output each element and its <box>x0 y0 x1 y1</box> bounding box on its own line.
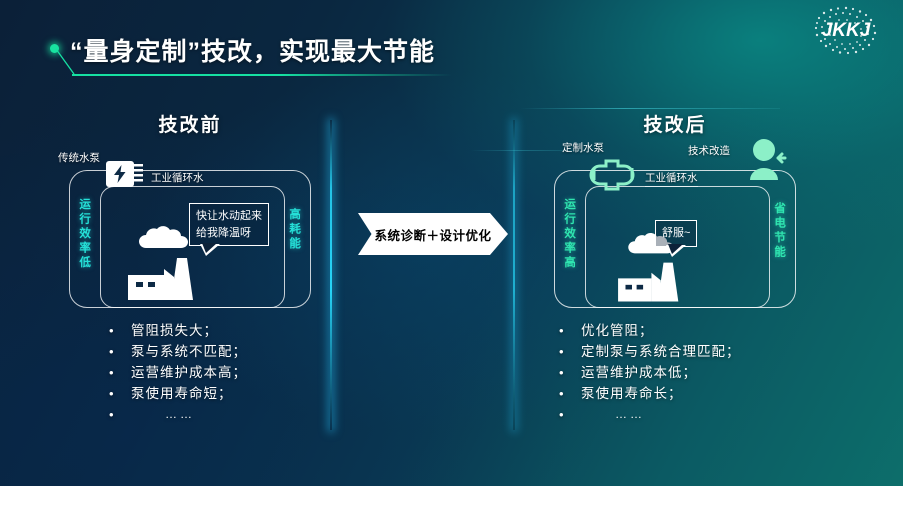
lightning-bolt-icon <box>113 165 127 183</box>
list-item: …… <box>555 404 741 425</box>
slide-canvas: JKKJ “量身定制”技改，实现最大节能 技改前 传统水泵 工业循环水 运行效率… <box>0 0 903 512</box>
after-vlabel-efficiency: 运行效率高 <box>563 198 575 271</box>
logo-wordmark: JKKJ <box>822 20 871 41</box>
list-item: 优化管阻； <box>555 320 741 341</box>
after-vlabel-saving: 省电节能 <box>773 202 785 260</box>
after-bubble-line1: 舒服~ <box>662 225 690 242</box>
divider-glow-right <box>513 120 515 430</box>
list-item: 管阻损失大； <box>105 320 247 341</box>
bubble-tail <box>200 244 220 256</box>
page-title: “量身定制”技改，实现最大节能 <box>70 32 435 68</box>
before-pump-label: 传统水泵 <box>58 150 100 165</box>
panel-after-title: 技改后 <box>540 110 810 137</box>
before-bubble-line2: 给我降温呀 <box>196 225 262 242</box>
list-item: 定制泵与系统合理匹配； <box>555 341 741 362</box>
before-bullet-list: 管阻损失大； 泵与系统不匹配； 运营维护成本高； 泵使用寿命短； …… <box>105 320 247 425</box>
list-item: 运营维护成本低； <box>555 362 741 383</box>
list-item: 运营维护成本高； <box>105 362 247 383</box>
accent-line-top <box>520 108 780 109</box>
before-bubble-line1: 快让水动起来 <box>196 208 262 225</box>
list-item: 泵使用寿命短； <box>105 383 247 404</box>
list-item: 泵与系统不匹配； <box>105 341 247 362</box>
technician-icon <box>745 138 789 180</box>
before-vlabel-energy: 高耗能 <box>288 208 300 252</box>
before-speech-bubble: 快让水动起来 给我降温呀 <box>189 203 269 246</box>
panel-before: 技改前 传统水泵 工业循环水 运行效率低 高耗能 快让水动起来 <box>55 110 325 310</box>
brand-logo: JKKJ <box>807 4 885 56</box>
after-worker-label: 技术改造 <box>688 143 730 158</box>
list-item: …… <box>105 404 247 425</box>
pump-fins <box>134 164 143 184</box>
custom-pump-icon <box>588 154 640 192</box>
after-pump-label: 定制水泵 <box>562 140 604 155</box>
title-underline <box>72 74 452 76</box>
after-loop-label: 工业循环水 <box>645 170 698 187</box>
after-bullet-list: 优化管阻； 定制泵与系统合理匹配； 运营维护成本低； 泵使用寿命长； …… <box>555 320 741 425</box>
logo-swirl-icon: JKKJ <box>807 4 885 56</box>
panel-before-title: 技改前 <box>55 110 325 137</box>
divider-glow-left <box>330 120 332 430</box>
before-loop-label: 工业循环水 <box>151 170 204 185</box>
panel-after: 技改后 定制水泵 工业循环水 技术改造 运行效率高 省电节能 <box>540 110 810 310</box>
before-vlabel-efficiency: 运行效率低 <box>78 198 90 271</box>
traditional-pump-icon <box>106 161 134 187</box>
after-speech-bubble: 舒服~ <box>655 220 697 247</box>
bubble-tail <box>666 245 686 257</box>
transform-arrow-banner: 系统诊断＋设计优化 <box>358 213 508 255</box>
list-item: 泵使用寿命长； <box>555 383 741 404</box>
